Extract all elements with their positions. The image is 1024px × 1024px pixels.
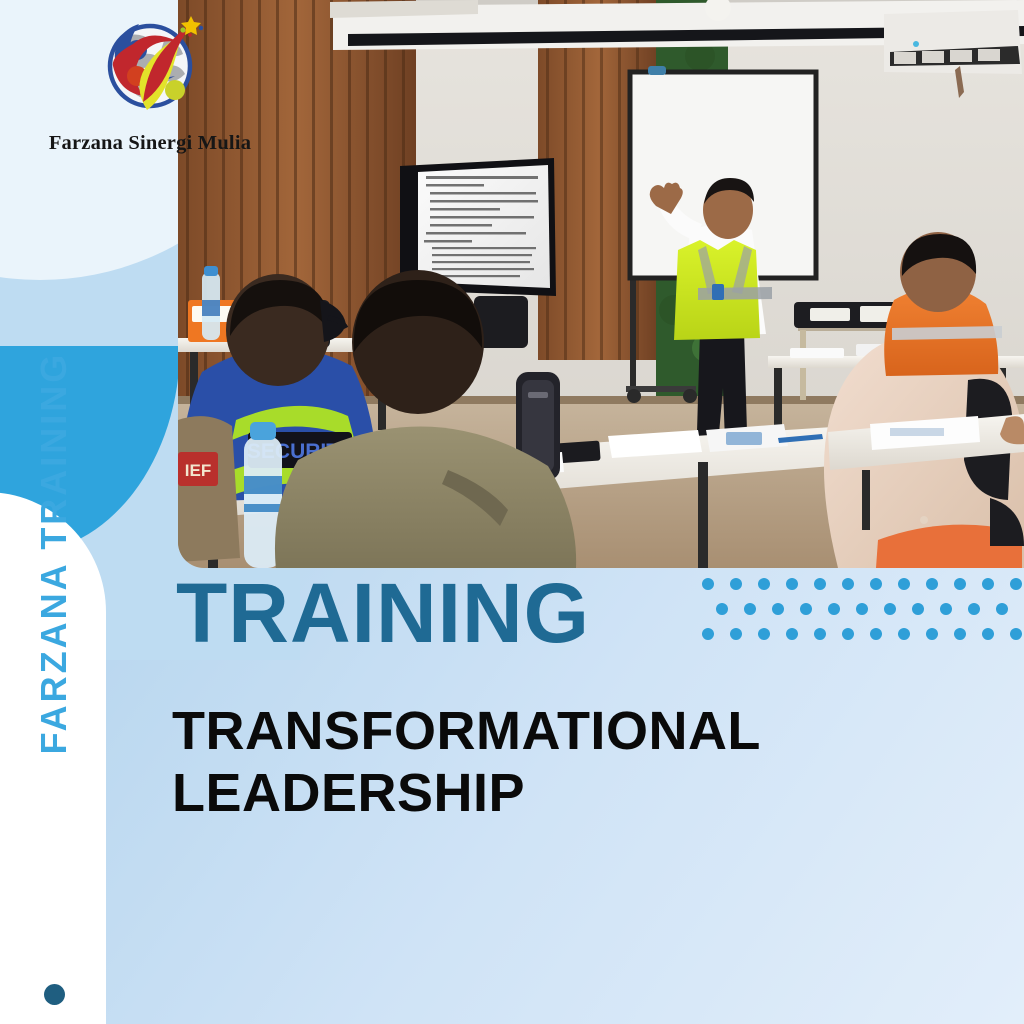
title-line-2: LEADERSHIP (172, 762, 872, 824)
dot (814, 628, 826, 640)
dot (716, 603, 728, 615)
dot (814, 578, 826, 590)
dot (786, 578, 798, 590)
side-label: FARZANA TRAINING (33, 333, 75, 773)
dot (842, 578, 854, 590)
dot (842, 628, 854, 640)
dot (926, 628, 938, 640)
participant-chief-patch: IEF (178, 416, 240, 562)
dot (744, 603, 756, 615)
dot (758, 578, 770, 590)
globe-people-logo-icon (91, 8, 209, 126)
dot (870, 578, 882, 590)
dot (898, 578, 910, 590)
dot (982, 578, 994, 590)
dot (954, 578, 966, 590)
dot (800, 603, 812, 615)
dot (996, 603, 1008, 615)
dot-grid-pattern-icon (702, 578, 1024, 650)
dot (884, 603, 896, 615)
dot (870, 628, 882, 640)
photo-illustration: SECURITY IEF (178, 0, 1024, 568)
poster-canvas: SECURITY IEF (0, 0, 1024, 1024)
page-title: TRANSFORMATIONAL LEADERSHIP (172, 700, 872, 824)
brand-logo: Farzana Sinergi Mulia (0, 8, 300, 188)
dot (1010, 628, 1022, 640)
dot (940, 603, 952, 615)
title-line-1: TRANSFORMATIONAL (172, 700, 872, 762)
dot (982, 628, 994, 640)
dot (702, 578, 714, 590)
dot (1010, 578, 1022, 590)
dot (828, 603, 840, 615)
dot (702, 628, 714, 640)
dot (926, 578, 938, 590)
bullet-dot-icon (44, 984, 65, 1005)
dot (898, 628, 910, 640)
dot (772, 603, 784, 615)
dot (912, 603, 924, 615)
page-title-kicker: TRAINING (176, 571, 590, 655)
dot (954, 628, 966, 640)
company-name: Farzana Sinergi Mulia (49, 132, 251, 155)
dot (730, 578, 742, 590)
classroom-training-photo: SECURITY IEF (178, 0, 1024, 568)
dot (758, 628, 770, 640)
dot (856, 603, 868, 615)
chief-patch-text: IEF (185, 461, 211, 480)
dot (786, 628, 798, 640)
dot (730, 628, 742, 640)
dot (968, 603, 980, 615)
